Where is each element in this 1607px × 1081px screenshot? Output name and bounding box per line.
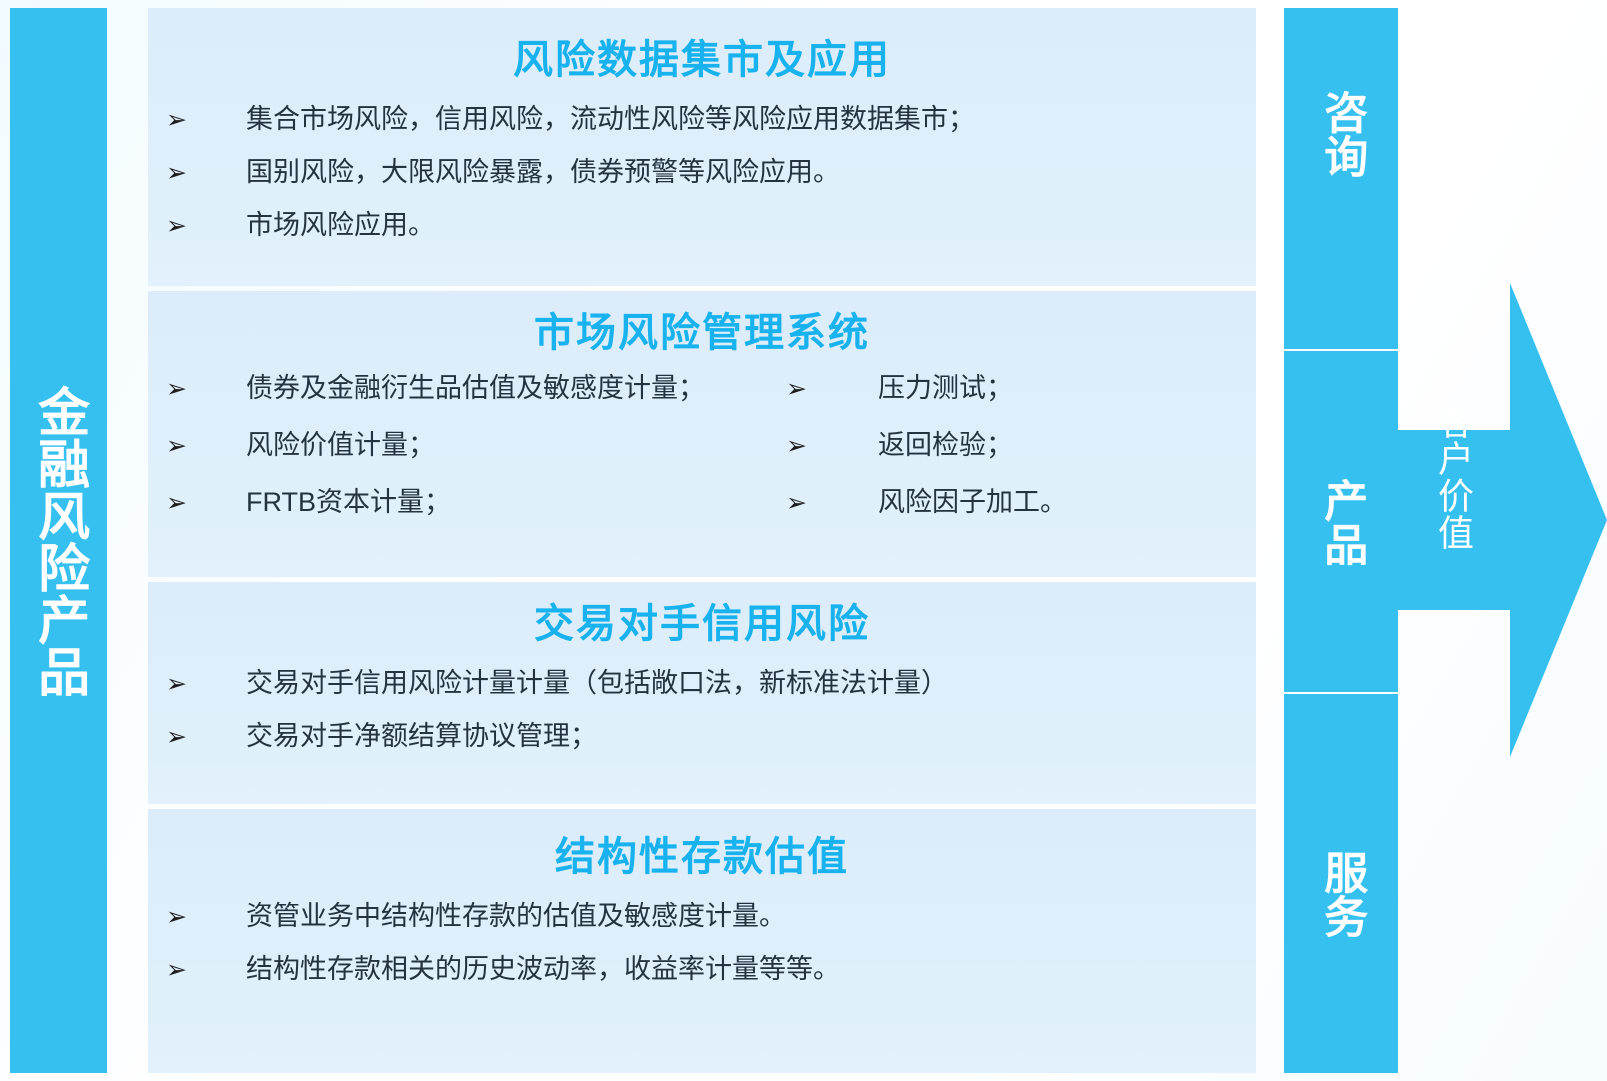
list-item: ➢ 资管业务中结构性存款的估值及敏感度计量。 <box>158 903 1256 930</box>
bullet-list-two-column: ➢ 债券及金融衍生品估值及敏感度计量； ➢ 压力测试； ➢ 风险价值计量； ➢ … <box>148 375 1256 516</box>
list-item: ➢ 压力测试； <box>778 375 1256 402</box>
arrow-bullet-icon: ➢ <box>158 491 246 516</box>
arrow-bullet-icon: ➢ <box>158 905 246 930</box>
section-title: 风险数据集市及应用 <box>148 40 1256 80</box>
left-category-bar: 金融风险产品 <box>10 8 107 1073</box>
list-item: ➢ 集合市场风险，信用风险，流动性风险等风险应用数据集市； <box>158 106 1256 133</box>
list-item: ➢ 交易对手净额结算协议管理； <box>158 723 1256 750</box>
list-item-text: 风险价值计量； <box>246 432 778 459</box>
arrow-bullet-icon: ➢ <box>158 672 246 697</box>
list-item: ➢ 返回检验； <box>778 432 1256 459</box>
arrow-bullet-icon: ➢ <box>158 377 246 402</box>
list-item-text: 压力测试； <box>878 375 1256 402</box>
list-item: ➢ 市场风险应用。 <box>158 212 1256 239</box>
list-item: ➢ 债券及金融衍生品估值及敏感度计量； <box>158 375 778 402</box>
stage-column: 咨询 产品 服务 <box>1284 8 1398 1073</box>
stage-label: 服务 <box>1317 850 1365 938</box>
list-item-text: 结构性存款相关的历史波动率，收益率计量等等。 <box>246 956 1256 983</box>
customer-value-arrow: 客户价值 <box>1384 275 1607 765</box>
section-risk-data-mart: 风险数据集市及应用 ➢ 集合市场风险，信用风险，流动性风险等风险应用数据集市； … <box>148 8 1256 286</box>
list-item-text: 资管业务中结构性存款的估值及敏感度计量。 <box>246 903 1256 930</box>
list-item: ➢ 国别风险，大限风险暴露，债券预警等风险应用。 <box>158 159 1256 186</box>
bullet-list: ➢ 集合市场风险，信用风险，流动性风险等风险应用数据集市； ➢ 国别风险，大限风… <box>148 106 1256 239</box>
list-item: ➢ 交易对手信用风险计量计量（包括敞口法，新标准法计量） <box>158 670 1256 697</box>
list-item-text: FRTB资本计量； <box>246 489 778 516</box>
diagram-canvas: 金融风险产品 风险数据集市及应用 ➢ 集合市场风险，信用风险，流动性风险等风险应… <box>0 0 1607 1081</box>
list-item-text: 市场风险应用。 <box>246 212 1256 239</box>
list-item: ➢ FRTB资本计量； <box>158 489 778 516</box>
stage-label: 产品 <box>1317 478 1365 566</box>
section-market-risk-system: 市场风险管理系统 ➢ 债券及金融衍生品估值及敏感度计量； ➢ 压力测试； ➢ 风… <box>148 291 1256 577</box>
section-title: 交易对手信用风险 <box>148 604 1256 644</box>
left-category-label: 金融风险产品 <box>10 341 107 741</box>
section-structured-deposit-valuation: 结构性存款估值 ➢ 资管业务中结构性存款的估值及敏感度计量。 ➢ 结构性存款相关… <box>148 809 1256 1073</box>
bullet-list: ➢ 资管业务中结构性存款的估值及敏感度计量。 ➢ 结构性存款相关的历史波动率，收… <box>148 903 1256 983</box>
section-title: 市场风险管理系统 <box>148 313 1256 353</box>
list-item-text: 返回检验； <box>878 432 1256 459</box>
section-title: 结构性存款估值 <box>148 837 1256 877</box>
arrow-bullet-icon: ➢ <box>778 491 878 516</box>
arrow-bullet-icon: ➢ <box>778 377 878 402</box>
list-item-text: 交易对手净额结算协议管理； <box>246 723 1256 750</box>
arrow-bullet-icon: ➢ <box>158 161 246 186</box>
stage-service: 服务 <box>1284 694 1398 1073</box>
arrow-bullet-icon: ➢ <box>158 214 246 239</box>
stage-label: 咨询 <box>1317 90 1365 178</box>
stage-product: 产品 <box>1284 351 1398 692</box>
arrow-bullet-icon: ➢ <box>158 958 246 983</box>
arrow-bullet-icon: ➢ <box>158 108 246 133</box>
bullet-list: ➢ 交易对手信用风险计量计量（包括敞口法，新标准法计量） ➢ 交易对手净额结算协… <box>148 670 1256 750</box>
arrow-label: 客户价值 <box>1404 403 1474 551</box>
list-item: ➢ 风险价值计量； <box>158 432 778 459</box>
list-item-text: 债券及金融衍生品估值及敏感度计量； <box>246 375 778 402</box>
list-item: ➢ 风险因子加工。 <box>778 489 1256 516</box>
arrow-bullet-icon: ➢ <box>158 434 246 459</box>
stage-consulting: 咨询 <box>1284 8 1398 349</box>
list-item: ➢ 结构性存款相关的历史波动率，收益率计量等等。 <box>158 956 1256 983</box>
arrow-bullet-icon: ➢ <box>778 434 878 459</box>
list-item-text: 交易对手信用风险计量计量（包括敞口法，新标准法计量） <box>246 670 1256 697</box>
arrow-bullet-icon: ➢ <box>158 725 246 750</box>
section-counterparty-credit-risk: 交易对手信用风险 ➢ 交易对手信用风险计量计量（包括敞口法，新标准法计量） ➢ … <box>148 582 1256 804</box>
list-item-text: 风险因子加工。 <box>878 489 1256 516</box>
content-panel: 风险数据集市及应用 ➢ 集合市场风险，信用风险，流动性风险等风险应用数据集市； … <box>148 8 1256 1073</box>
list-item-text: 国别风险，大限风险暴露，债券预警等风险应用。 <box>246 159 1256 186</box>
list-item-text: 集合市场风险，信用风险，流动性风险等风险应用数据集市； <box>246 106 1256 133</box>
